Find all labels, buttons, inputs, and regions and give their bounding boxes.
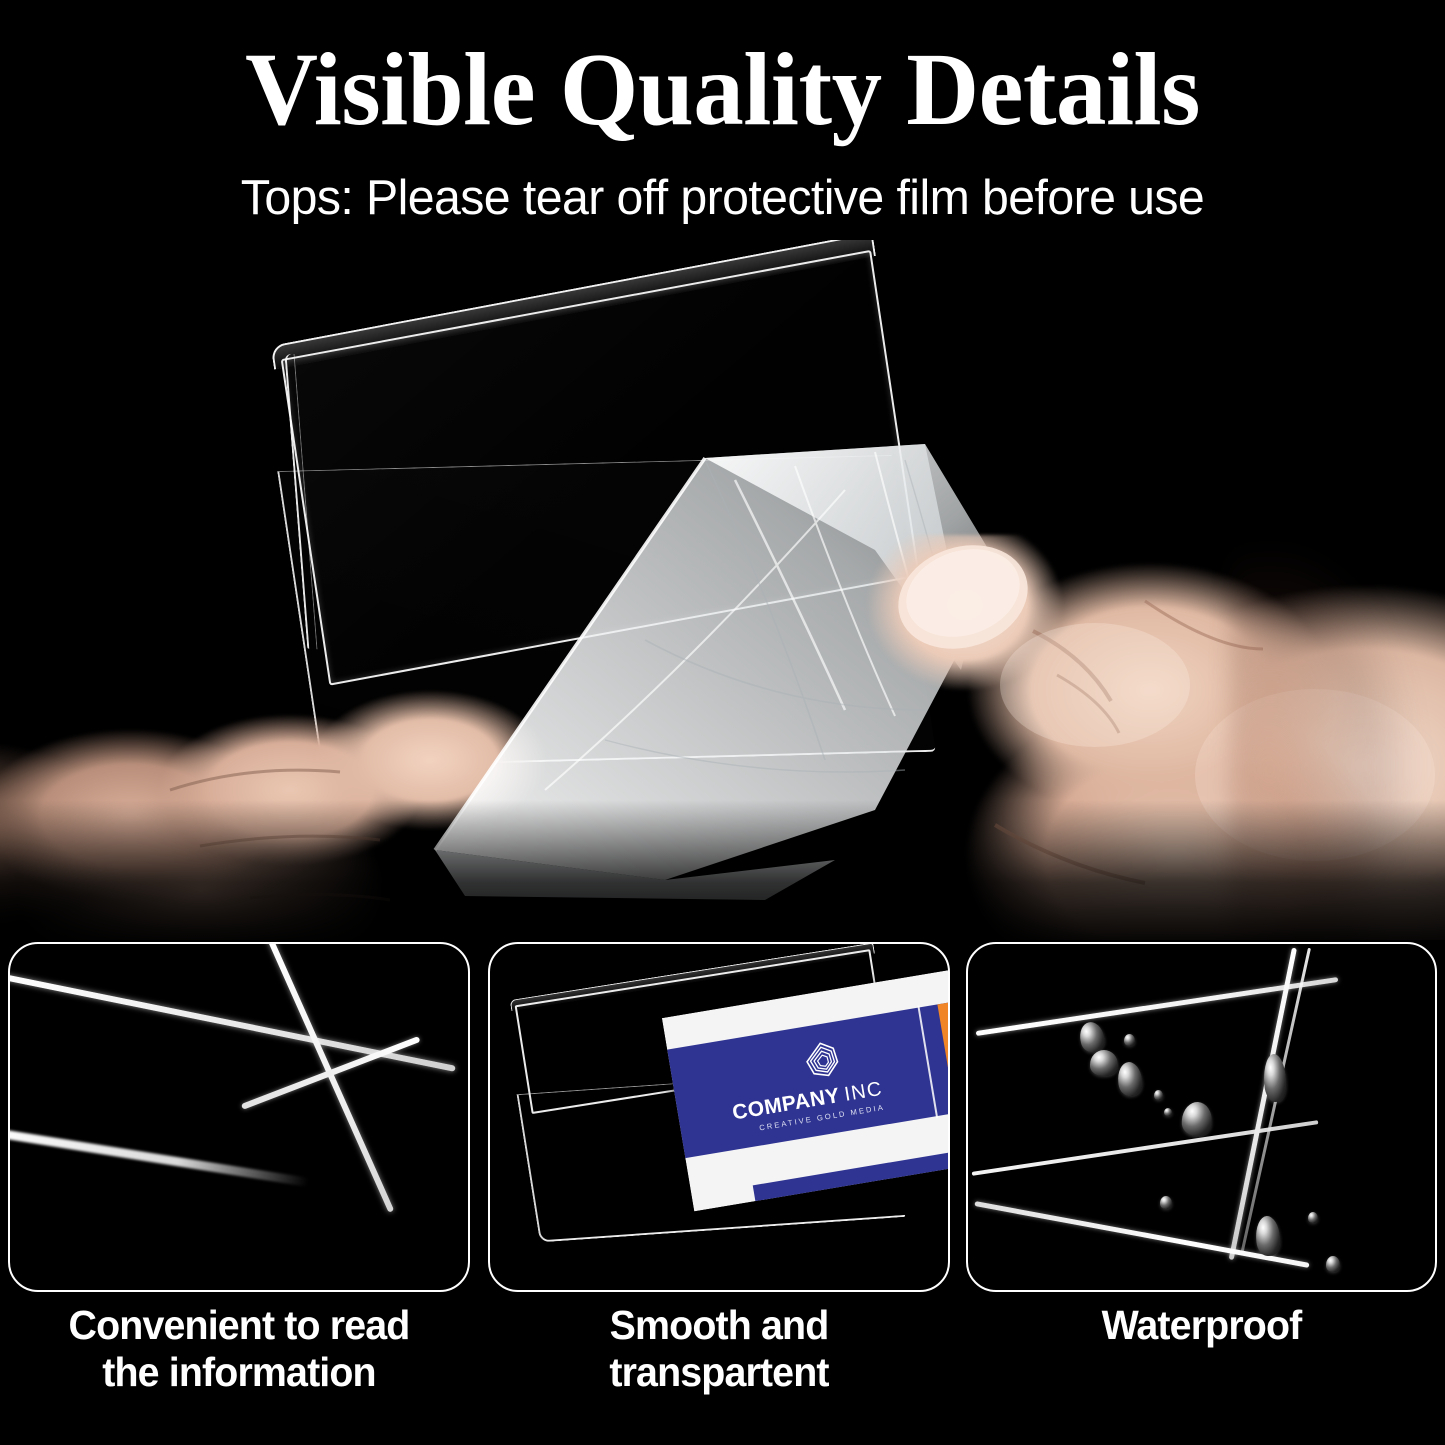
page-subtitle: Tops: Please tear off protective film be… — [11, 172, 1434, 224]
panel-image-acrylic-edge — [10, 944, 468, 1290]
caption-row: Convenient to read the information Smoot… — [0, 1302, 1445, 1445]
caption-convenient: Convenient to read the information — [17, 1302, 461, 1396]
acrylic-v-fold — [241, 1036, 421, 1110]
water-droplet — [1154, 1090, 1163, 1100]
hero-vignette — [0, 800, 1445, 940]
caption-line-1: Convenient to read — [17, 1302, 461, 1349]
caption-smooth: Smooth and transpartent — [497, 1302, 941, 1396]
caption-line-1: Waterproof — [975, 1302, 1427, 1349]
acrylic-base-edge — [10, 1126, 309, 1187]
caption-line-2: the information — [17, 1349, 461, 1396]
feature-panel-convenient — [8, 942, 470, 1292]
panel-image-water-droplets — [968, 944, 1435, 1290]
water-droplet — [1124, 1034, 1135, 1046]
water-droplet — [1164, 1108, 1172, 1116]
acrylic-diagonal-edge — [264, 944, 394, 1213]
panel-image-card-in-holder: COMPANYINC CREATIVE GOLD MEDIA — [490, 944, 948, 1290]
hero-image — [0, 240, 1445, 940]
feature-panel-smooth: COMPANYINC CREATIVE GOLD MEDIA — [488, 942, 950, 1292]
caption-line-2: transpartent — [497, 1349, 941, 1396]
feature-panel-row: COMPANYINC CREATIVE GOLD MEDIA — [0, 942, 1445, 1294]
acrylic-top-edge — [10, 970, 456, 1072]
caption-line-1: Smooth and — [497, 1302, 941, 1349]
nested-rings-logo — [798, 1035, 849, 1086]
water-droplet — [1160, 1196, 1172, 1209]
feature-panel-waterproof — [966, 942, 1437, 1292]
water-droplet — [1326, 1256, 1340, 1272]
water-droplet — [1308, 1212, 1318, 1223]
caption-waterproof: Waterproof — [975, 1302, 1427, 1349]
water-droplet — [1090, 1050, 1118, 1076]
product-feature-image: Visible Quality Details Tops: Please tea… — [0, 0, 1445, 1445]
page-title: Visible Quality Details — [22, 38, 1424, 142]
